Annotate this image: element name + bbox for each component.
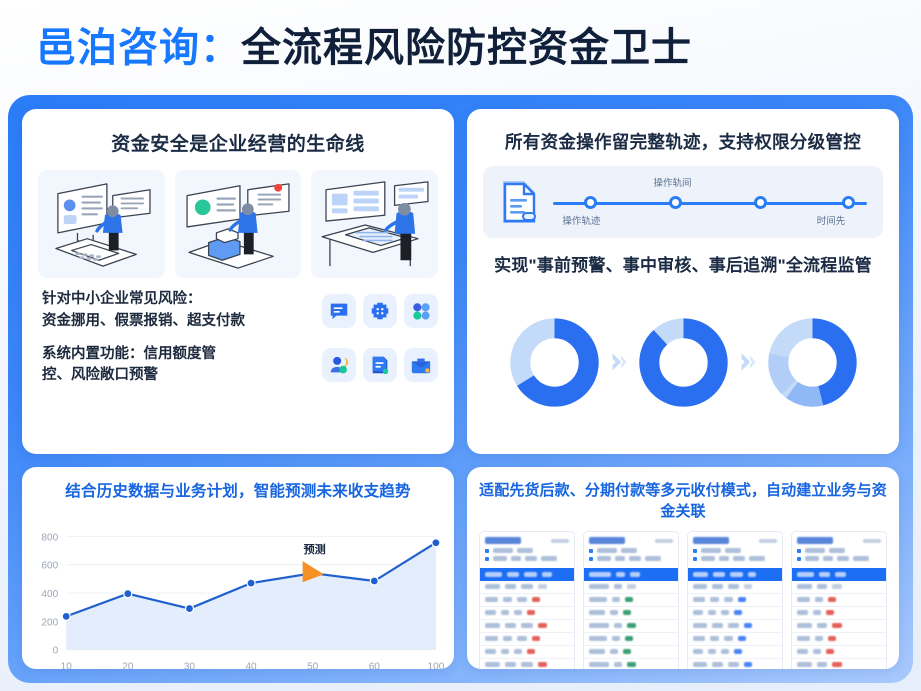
table-cell	[503, 597, 512, 602]
table-row[interactable]	[584, 581, 678, 594]
table-cell	[521, 662, 533, 667]
filter-dot-icon	[797, 549, 801, 553]
table-cell	[589, 584, 609, 589]
table-cell	[813, 610, 821, 615]
mini-table-logo	[797, 537, 833, 544]
table-cell	[485, 584, 500, 589]
table-cell	[625, 597, 633, 602]
column-header	[630, 572, 640, 577]
mini-table-body	[584, 581, 678, 670]
y-tick-label: 600	[41, 561, 58, 572]
table-cell	[485, 649, 496, 654]
card-audit-subtitle: 实现"事前预警、事中审核、事后追溯"全流程监管	[483, 251, 883, 276]
card-forecast: 结合历史数据与业务计划，智能预测未来收支趋势 0200400600800 102…	[22, 467, 454, 669]
mini-table-filters	[485, 548, 569, 561]
y-tick-label: 200	[41, 617, 58, 628]
column-header	[693, 572, 708, 577]
table-cell	[797, 636, 810, 641]
filter-row[interactable]	[589, 548, 673, 553]
content-shell: 资金安全是企业经营的生命线	[8, 95, 913, 683]
table-cell	[744, 662, 752, 667]
table-row[interactable]	[584, 659, 678, 670]
table-cell	[612, 597, 620, 602]
table-cell	[505, 662, 516, 667]
table-cell	[693, 610, 703, 615]
kiosk-screen-person-illustration	[175, 170, 302, 278]
table-cell	[610, 610, 618, 615]
mini-table-body	[688, 581, 782, 670]
mini-table-body	[792, 581, 886, 670]
chevron-right-icon-2	[735, 349, 761, 375]
mini-table-filters	[693, 548, 777, 561]
table-cell	[589, 597, 607, 602]
x-tick-label: 20	[122, 662, 134, 669]
table-cell	[832, 623, 842, 628]
donut-in-process-audit	[636, 315, 731, 410]
table-cell	[738, 597, 746, 602]
filter-row[interactable]	[485, 548, 569, 553]
table-cell	[797, 623, 812, 628]
table-row[interactable]	[688, 659, 782, 670]
system-info-row: 系统内置功能：信用额度管 控、风险敞口预警	[38, 344, 438, 388]
filter-row[interactable]	[797, 548, 881, 553]
data-point	[370, 577, 378, 585]
table-row[interactable]	[792, 607, 886, 620]
table-cell	[625, 636, 633, 641]
x-tick-label: 30	[184, 662, 196, 669]
donut-pre-warning	[507, 315, 602, 410]
table-cell	[505, 623, 516, 628]
card-audit-title: 所有资金操作留完整轨迹，支持权限分级管控	[483, 129, 883, 154]
table-cell	[832, 662, 842, 667]
table-row[interactable]	[480, 646, 574, 659]
x-tick-label: 40	[245, 662, 257, 669]
table-cell	[832, 584, 842, 589]
table-cell	[503, 636, 512, 641]
table-row[interactable]	[688, 594, 782, 607]
timeline-label-end: 时间先	[817, 213, 846, 227]
table-row[interactable]	[584, 620, 678, 633]
table-cell	[744, 584, 752, 589]
table-cell	[514, 610, 522, 615]
mini-table-column-headers	[792, 568, 886, 581]
card-payment-modes: 适配先货后款、分期付款等多元收付模式，自动建立业务与资金关联	[467, 467, 899, 669]
table-cell	[721, 610, 729, 615]
table-cell	[610, 649, 618, 654]
table-cell	[693, 636, 705, 641]
table-cell	[614, 584, 622, 589]
card-grid: 资金安全是企业经营的生命线	[22, 109, 899, 669]
data-point	[124, 590, 132, 598]
table-row[interactable]	[480, 594, 574, 607]
data-point	[432, 539, 440, 547]
forecast-chart: 0200400600800 102030405060100 预测	[22, 511, 454, 669]
filter-dot-icon	[485, 557, 489, 561]
table-cell	[734, 649, 742, 654]
table-cell	[505, 584, 516, 589]
table-cell	[623, 649, 631, 654]
table-cell	[527, 610, 535, 615]
mini-table-column-headers	[584, 568, 678, 581]
filter-row[interactable]	[797, 556, 881, 561]
table-row[interactable]	[688, 646, 782, 659]
table-cell	[693, 584, 707, 589]
four-circles-icon[interactable]	[404, 294, 438, 328]
mini-table-body	[480, 581, 574, 670]
table-cell	[532, 636, 540, 641]
table-row[interactable]	[792, 633, 886, 646]
card-forecast-title: 结合历史数据与业务计划，智能预测未来收支趋势	[22, 467, 454, 511]
table-cell	[627, 662, 636, 667]
x-tick-label: 50	[307, 662, 319, 669]
page-title: 邑泊咨询：全流程风险防控资金卫士	[36, 28, 692, 68]
table-row[interactable]	[584, 646, 678, 659]
column-header	[835, 572, 846, 577]
table-cell	[817, 662, 827, 667]
document-stack-icon[interactable]	[363, 348, 397, 382]
mini-table-brand	[693, 537, 777, 544]
table-cell	[589, 636, 607, 641]
table-row[interactable]	[480, 620, 574, 633]
table-row[interactable]	[688, 620, 782, 633]
mini-table-header	[480, 532, 574, 564]
table-cell	[797, 649, 808, 654]
filter-row[interactable]	[693, 556, 777, 561]
page-title-brand: 邑泊咨询：	[36, 26, 241, 70]
table-cell	[826, 610, 834, 615]
table-row[interactable]	[792, 581, 886, 594]
data-point	[247, 579, 255, 587]
table-cell	[728, 662, 739, 667]
chat-bubble-icon[interactable]	[322, 294, 356, 328]
dashboard-table-person-illustration	[311, 170, 438, 278]
mini-table-meta	[759, 539, 777, 543]
donut-row	[483, 282, 883, 442]
table-cell	[817, 584, 827, 589]
table-cell	[532, 597, 540, 602]
table-cell	[527, 649, 535, 654]
filter-dot-icon	[693, 549, 697, 553]
header: 邑泊咨询：全流程风险防控资金卫士	[0, 0, 921, 95]
mini-table-brand	[485, 537, 569, 544]
table-cell	[485, 610, 496, 615]
desk-monitor-person-illustration	[38, 170, 165, 278]
table-cell	[485, 636, 498, 641]
table-cell	[538, 623, 547, 628]
table-cell	[724, 597, 733, 602]
grid-dashboard-icon[interactable]	[363, 294, 397, 328]
table-cell	[797, 584, 812, 589]
table-cell	[797, 597, 810, 602]
data-point	[185, 605, 193, 613]
column-header	[730, 572, 742, 577]
y-tick-label: 400	[41, 589, 58, 600]
chevron-right-icon	[606, 349, 632, 375]
x-tick-label: 60	[369, 662, 381, 669]
table-cell	[721, 649, 729, 654]
table-cell	[521, 584, 533, 589]
table-cell	[627, 623, 636, 628]
table-cell	[728, 623, 739, 628]
table-cell	[710, 636, 719, 641]
mini-table-meta	[863, 539, 881, 543]
mini-table-filters	[589, 548, 673, 561]
table-cell	[797, 662, 812, 667]
system-info-line1: 系统内置功能：信用额度管	[42, 344, 322, 366]
page-title-rest: 全流程风险防控资金卫士	[241, 26, 692, 70]
table-cell	[693, 597, 705, 602]
illustration-row	[38, 170, 438, 278]
mini-table-header	[792, 532, 886, 564]
risk-icon-set	[322, 294, 438, 328]
column-header	[713, 572, 725, 577]
column-header	[589, 572, 611, 577]
table-row[interactable]	[584, 607, 678, 620]
table-cell	[708, 649, 716, 654]
table-row[interactable]	[480, 607, 574, 620]
timeline-dot-4[interactable]	[842, 196, 855, 209]
table-row[interactable]	[584, 594, 678, 607]
users-icon[interactable]	[322, 348, 356, 382]
table-cell	[614, 623, 622, 628]
donut-post-trace	[765, 315, 860, 410]
poster-root: 邑泊咨询：全流程风险防控资金卫士 资金安全是企业经营的生命线	[0, 0, 921, 691]
system-icon-set	[322, 348, 438, 382]
mini-table-filters	[797, 548, 881, 561]
filter-dot-icon	[693, 557, 697, 561]
table-cell	[828, 636, 836, 641]
forecast-annotation-label: 预测	[304, 542, 326, 556]
column-header	[524, 572, 537, 577]
table-cell	[828, 597, 836, 602]
risk-info-line2: 资金挪用、假票报销、超支付款	[42, 311, 322, 333]
payment-table-row	[467, 531, 899, 669]
filter-dot-icon	[589, 549, 593, 553]
mini-table-header	[584, 532, 678, 564]
briefcase-icon[interactable]	[404, 348, 438, 382]
table-cell	[485, 623, 500, 628]
table-cell	[738, 636, 746, 641]
filter-row[interactable]	[693, 548, 777, 553]
timeline-label-start: 操作轨迹	[562, 213, 600, 227]
x-tick-label: 10	[61, 662, 73, 669]
mini-table-meta	[655, 539, 673, 543]
mini-table-brand	[589, 537, 673, 544]
payment-table-1[interactable]	[479, 531, 575, 669]
mini-table-logo	[589, 537, 625, 544]
table-row[interactable]	[480, 581, 574, 594]
card-funds-safety: 资金安全是企业经营的生命线	[22, 109, 454, 454]
table-cell	[589, 610, 605, 615]
payment-table-4[interactable]	[791, 531, 887, 669]
column-header	[542, 572, 552, 577]
table-cell	[614, 662, 622, 667]
column-header	[616, 572, 625, 577]
mini-table-header	[688, 532, 782, 564]
table-row[interactable]	[480, 633, 574, 646]
mini-table-logo	[485, 537, 521, 544]
table-cell	[485, 597, 498, 602]
table-cell	[815, 597, 823, 602]
table-cell	[517, 636, 527, 641]
table-row[interactable]	[792, 659, 886, 670]
table-row[interactable]	[584, 633, 678, 646]
system-info-text: 系统内置功能：信用额度管 控、风险敞口预警	[38, 344, 322, 388]
column-header	[748, 572, 757, 577]
table-cell	[538, 662, 547, 667]
system-info-line2: 控、风险敞口预警	[42, 365, 322, 387]
table-cell	[724, 636, 733, 641]
table-cell	[538, 584, 547, 589]
timeline-label-above: 操作轨间	[653, 175, 691, 189]
table-cell	[693, 662, 707, 667]
table-cell	[744, 623, 752, 628]
card-funds-title: 资金安全是企业经营的生命线	[38, 129, 438, 156]
table-cell	[514, 649, 522, 654]
table-cell	[693, 649, 703, 654]
table-cell	[589, 649, 605, 654]
table-cell	[501, 610, 509, 615]
timeline-dot-2[interactable]	[669, 196, 682, 209]
table-row[interactable]	[688, 581, 782, 594]
table-row[interactable]	[792, 646, 886, 659]
table-cell	[826, 649, 834, 654]
filter-row[interactable]	[589, 556, 673, 561]
payment-table-3[interactable]	[687, 531, 783, 669]
table-cell	[627, 584, 636, 589]
y-tick-label: 800	[41, 532, 58, 543]
table-cell	[589, 623, 609, 628]
table-cell	[734, 610, 742, 615]
payment-table-2[interactable]	[583, 531, 679, 669]
table-cell	[712, 584, 723, 589]
risk-info-text: 针对中小企业常见风险： 资金挪用、假票报销、超支付款	[38, 289, 322, 333]
table-cell	[485, 662, 500, 667]
timeline-dot-1[interactable]	[584, 196, 597, 209]
column-header	[485, 572, 502, 577]
timeline-dot-3[interactable]	[754, 196, 767, 209]
mini-table-brand	[797, 537, 881, 544]
table-cell	[797, 610, 808, 615]
mini-table-meta	[551, 539, 569, 543]
table-cell	[501, 649, 509, 654]
mini-table-column-headers	[688, 568, 782, 581]
y-tick-label: 0	[53, 646, 59, 657]
table-cell	[815, 636, 823, 641]
column-header	[819, 572, 830, 577]
operation-timeline: 操作轨间 操作轨迹 时间先	[553, 173, 867, 231]
table-row[interactable]	[688, 607, 782, 620]
table-cell	[517, 597, 527, 602]
table-cell	[712, 662, 723, 667]
table-row[interactable]	[792, 594, 886, 607]
risk-info-row: 针对中小企业常见风险： 资金挪用、假票报销、超支付款	[38, 289, 438, 333]
filter-dot-icon	[589, 557, 593, 561]
table-cell	[712, 623, 723, 628]
filter-dot-icon	[485, 549, 489, 553]
card-audit-trace: 所有资金操作留完整轨迹，支持权限分级管控	[467, 109, 899, 454]
mini-table-logo	[693, 537, 729, 544]
mini-table-column-headers	[480, 568, 574, 581]
table-cell	[612, 636, 620, 641]
filter-dot-icon	[797, 557, 801, 561]
table-cell	[708, 610, 716, 615]
table-cell	[693, 623, 707, 628]
table-cell	[817, 623, 827, 628]
file-document-icon	[499, 179, 539, 225]
forecast-chart-svg: 0200400600800 102030405060100 预测	[22, 511, 454, 669]
card-payment-title: 适配先货后款、分期付款等多元收付模式，自动建立业务与资金关联	[467, 467, 899, 531]
timeline-box: 操作轨间 操作轨迹 时间先	[483, 166, 883, 238]
risk-info-line1: 针对中小企业常见风险：	[42, 289, 322, 311]
table-row[interactable]	[480, 659, 574, 670]
data-point	[62, 612, 70, 620]
table-cell	[710, 597, 719, 602]
table-cell	[813, 649, 821, 654]
column-header	[797, 572, 814, 577]
x-tick-label: 100	[428, 662, 445, 669]
column-header	[507, 572, 519, 577]
table-cell	[728, 584, 739, 589]
table-row[interactable]	[688, 633, 782, 646]
table-cell	[589, 662, 609, 667]
table-row[interactable]	[792, 620, 886, 633]
timeline-line	[553, 202, 867, 205]
filter-row[interactable]	[485, 556, 569, 561]
table-cell	[521, 623, 533, 628]
table-cell	[623, 610, 631, 615]
